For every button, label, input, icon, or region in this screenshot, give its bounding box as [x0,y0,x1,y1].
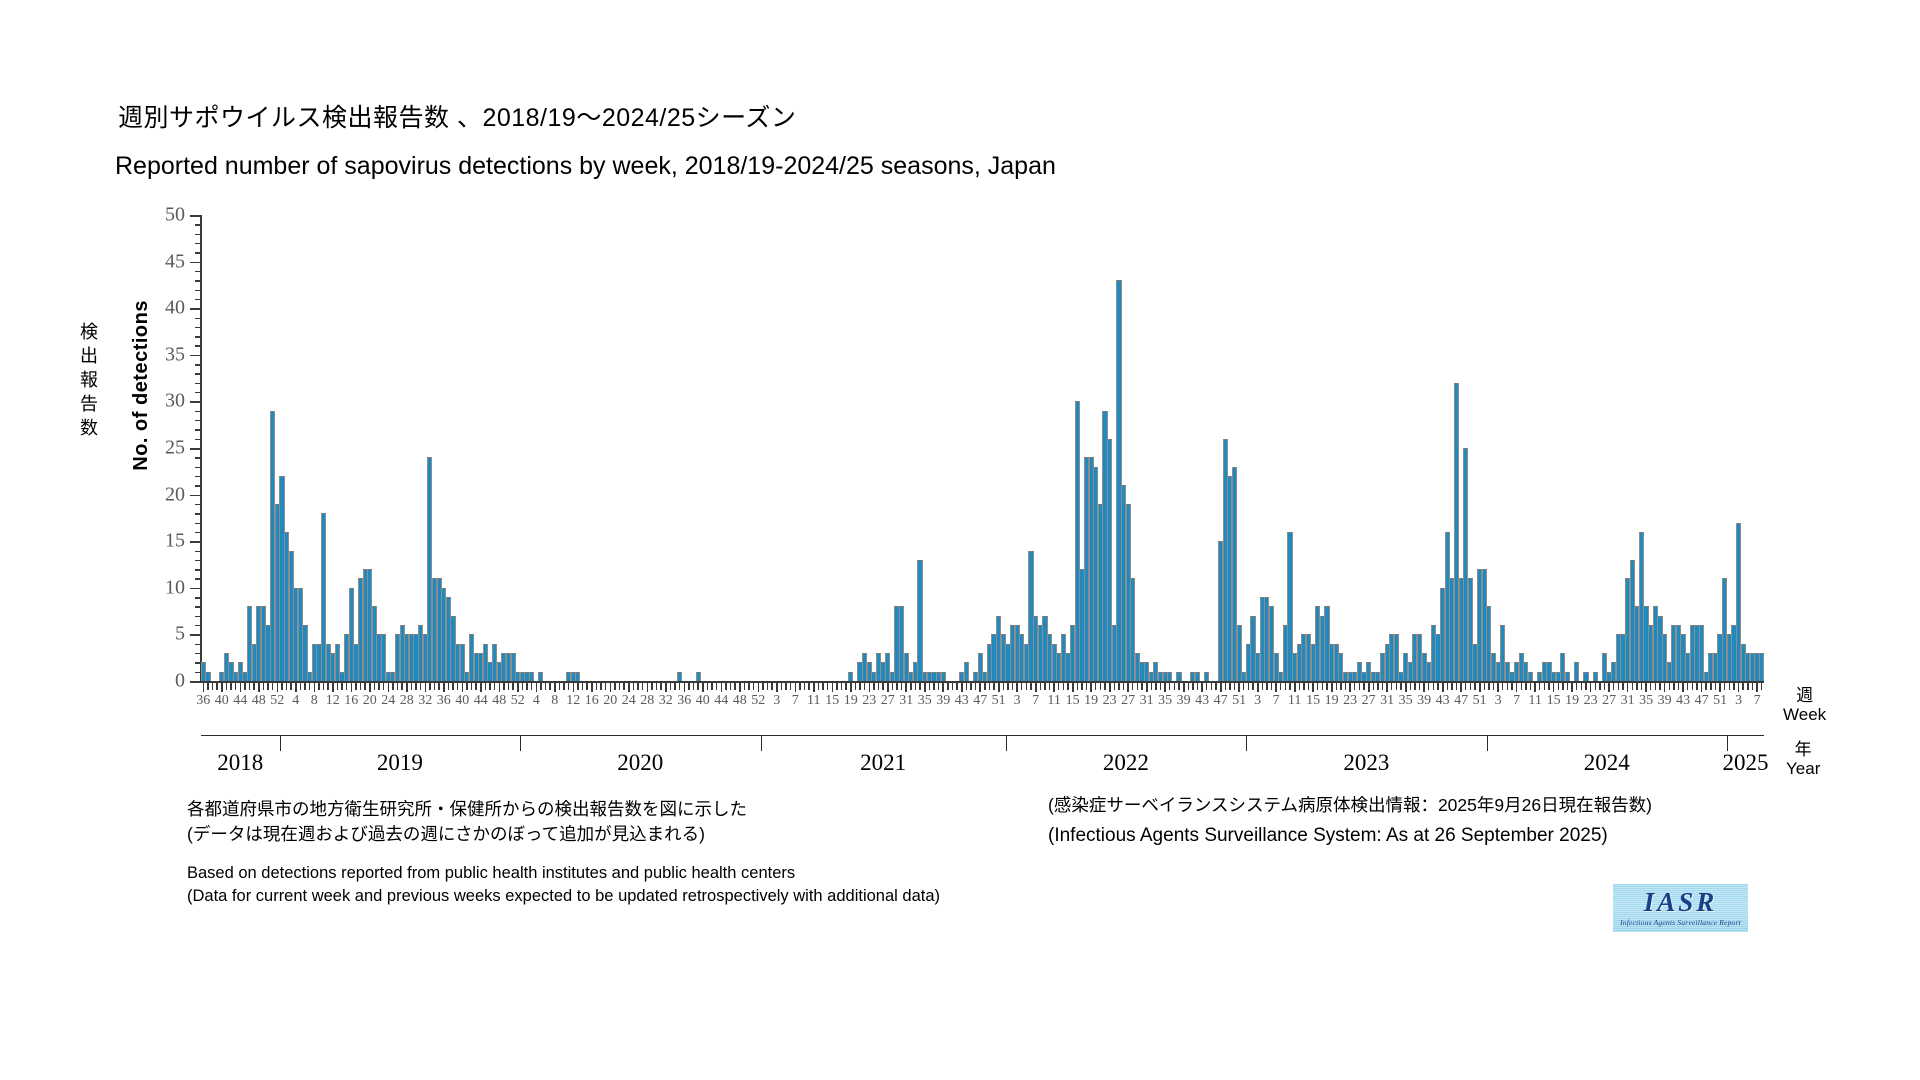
footnote-japanese: 各都道府県市の地方衛生研究所・保健所からの検出報告数を図に示した (データは現在… [187,797,747,847]
bar [1593,672,1598,681]
x-tick-minor [771,683,772,690]
x-tick-minor [822,683,823,690]
x-tick-major [1238,683,1240,692]
x-tick-major [1405,683,1407,692]
x-tick-minor [1132,683,1133,690]
x-tick-minor [693,683,694,690]
x-tick-minor [545,683,546,690]
x-tick-major [369,683,371,692]
x-tick-minor [1252,683,1253,690]
x-tick-label: 23 [862,693,876,709]
x-tick-minor [494,683,495,690]
y-tick-minor [195,467,201,468]
y-tick-minor [195,653,201,654]
year-separator [520,735,521,751]
x-tick-major [1442,683,1444,692]
x-tick-minor [1225,683,1226,690]
x-tick-minor [785,683,786,690]
x-tick-minor [1687,683,1688,690]
x-tick-major [832,683,834,692]
x-tick-minor [744,683,745,690]
x-tick-label: 16 [585,693,599,709]
y-tick-minor [195,569,201,570]
x-tick-major [1312,683,1314,692]
x-tick-minor [956,683,957,690]
y-tick-minor [195,373,201,374]
x-tick-minor [1229,683,1230,690]
chart-title-japanese: 週別サポウイルス検出報告数 、2018/19〜2024/25シーズン [118,98,796,134]
x-tick-label: 44 [714,693,728,709]
x-tick-label: 15 [1547,693,1561,709]
bar [696,672,701,681]
x-tick-minor [781,683,782,690]
x-tick-label: 8 [311,693,318,709]
x-tick-major [1534,683,1536,692]
bar [964,662,969,681]
y-tick-minor [195,364,201,365]
x-tick-minor [919,683,920,690]
y-tick-minor [195,606,201,607]
x-tick-major [591,683,593,692]
year-separator [1487,735,1488,751]
x-tick-major [1423,683,1425,692]
x-tick-label: 19 [1325,693,1339,709]
x-tick-minor [1622,683,1623,690]
x-tick-major [443,683,445,692]
y-tick-minor [195,513,201,514]
x-tick-minor [1692,683,1693,690]
x-tick-minor [1234,683,1235,690]
x-tick-major [942,683,944,692]
x-tick-label: 35 [1399,693,1413,709]
y-tick-major [190,401,201,403]
source-note-english: (Infectious Agents Surveillance System: … [1048,825,1608,847]
x-tick-minor [1299,683,1300,690]
x-tick-major [462,683,464,692]
x-tick-minor [970,683,971,690]
x-tick-major [221,683,223,692]
year-label: 2020 [617,750,663,776]
x-tick-minor [882,683,883,690]
x-tick-minor [938,683,939,690]
x-tick-major [388,683,390,692]
x-tick-minor [327,683,328,690]
x-tick-minor [1428,683,1429,690]
x-tick-minor [711,683,712,690]
y-tick-label: 5 [175,623,185,646]
x-tick-minor [360,683,361,690]
x-tick-minor [1618,683,1619,690]
x-tick-minor [929,683,930,690]
x-tick-major [1738,683,1740,692]
x-tick-minor [1095,683,1096,690]
x-tick-minor [1678,683,1679,690]
x-tick-minor [1729,683,1730,690]
year-separator [280,735,281,751]
x-tick-major [721,683,723,692]
y-tick-major [190,448,201,450]
x-tick-label: 40 [215,693,229,709]
x-tick-minor [1178,683,1179,690]
plot-area: 05101520253035404550 [201,215,1764,681]
x-tick-label: 11 [807,693,820,709]
x-tick-label: 39 [1177,693,1191,709]
x-tick-minor [244,683,245,690]
x-tick-minor [577,683,578,690]
year-separator [1246,735,1247,751]
bar [1167,672,1172,681]
x-tick-label: 11 [1047,693,1060,709]
x-tick-label: 24 [622,693,636,709]
x-tick-major [1090,683,1092,692]
y-tick-minor [195,560,201,561]
x-tick-minor [725,683,726,690]
y-tick-minor [195,672,201,673]
x-tick-minor [1049,683,1050,690]
x-tick-minor [281,683,282,690]
x-tick-minor [1322,683,1323,690]
y-tick-label: 45 [165,250,185,273]
x-tick-minor [1761,683,1762,690]
x-tick-minor [642,683,643,690]
x-tick-minor [656,683,657,690]
x-tick-label: 4 [533,693,540,709]
iasr-logo-acronym: IASR [1644,889,1718,916]
y-tick-minor [195,532,201,533]
x-tick-minor [429,683,430,690]
x-tick-minor [1030,683,1031,690]
x-tick-major [887,683,889,692]
x-tick-major [1349,683,1351,692]
x-tick-major [998,683,1000,692]
x-tick-minor [415,683,416,690]
x-tick-minor [614,683,615,690]
x-tick-minor [1197,683,1198,690]
x-tick-major [758,683,760,692]
source-note-japanese: (感染症サーベイランスシステム病原体検出情報：2025年9月26日現在報告数) [1048,792,1652,817]
x-tick-minor [263,683,264,690]
week-caption-japanese: 週 [1783,686,1826,705]
x-tick-label: 51 [992,693,1006,709]
x-tick-major [536,683,538,692]
x-tick-minor [859,683,860,690]
x-tick-minor [1169,683,1170,690]
x-tick-major [1553,683,1555,692]
x-tick-minor [1326,683,1327,690]
y-tick-label: 20 [165,483,185,506]
y-axis-title-japanese: 検出報告数 [78,320,100,441]
x-tick-label: 3 [1254,693,1261,709]
bar [1759,653,1764,681]
x-tick-minor [1359,683,1360,690]
x-tick-minor [401,683,402,690]
x-tick-minor [670,683,671,690]
x-tick-major [961,683,963,692]
x-tick-minor [540,683,541,690]
x-tick-major [979,683,981,692]
x-tick-minor [748,683,749,690]
x-tick-major [1645,683,1647,692]
x-tick-minor [1174,683,1175,690]
x-tick-label: 48 [492,693,506,709]
y-tick-minor [195,252,201,253]
x-tick-minor [1243,683,1244,690]
x-tick-label: 35 [1158,693,1172,709]
chart-title-english: Reported number of sapovirus detections … [115,152,1056,181]
x-tick-minor [1044,683,1045,690]
x-tick-minor [697,683,698,690]
y-tick-major [190,262,201,264]
x-tick-major [924,683,926,692]
x-tick-minor [1581,683,1582,690]
x-tick-minor [1419,683,1420,690]
x-tick-minor [304,683,305,690]
x-tick-minor [508,683,509,690]
y-tick-minor [195,523,201,524]
y-tick-minor [195,597,201,598]
x-tick-minor [1012,683,1013,690]
x-tick-minor [1086,683,1087,690]
x-tick-major [1627,683,1629,692]
x-tick-major [554,683,556,692]
x-tick-minor [799,683,800,690]
y-tick-major [190,495,201,497]
x-tick-minor [1548,683,1549,690]
x-tick-minor [1104,683,1105,690]
x-tick-minor [230,683,231,690]
x-tick-minor [804,683,805,690]
x-tick-minor [1742,683,1743,690]
x-tick-major [850,683,852,692]
x-tick-minor [448,683,449,690]
x-tick-minor [984,683,985,690]
week-axis-caption: 週 Week [1783,686,1826,724]
y-tick-minor [195,234,201,235]
x-tick-major [1516,683,1518,692]
x-tick-minor [1040,683,1041,690]
x-tick-minor [1673,683,1674,690]
y-tick-minor [195,290,201,291]
x-tick-minor [1414,683,1415,690]
x-tick-minor [966,683,967,690]
x-tick-label: 31 [1140,693,1154,709]
x-tick-major [258,683,260,692]
x-tick-minor [1215,683,1216,690]
x-tick-minor [1382,683,1383,690]
bar [941,672,946,681]
x-tick-minor [1595,683,1596,690]
bar [575,672,580,681]
x-tick-minor [1747,683,1748,690]
x-tick-major [1460,683,1462,692]
x-tick-major [1220,683,1222,692]
bar [677,672,682,681]
x-tick-minor [933,683,934,690]
x-tick-label: 15 [1066,693,1080,709]
x-tick-minor [1613,683,1614,690]
x-tick-minor [253,683,254,690]
x-tick-minor [1373,683,1374,690]
y-tick-label: 15 [165,530,185,553]
x-tick-minor [452,683,453,690]
x-tick-minor [1558,683,1559,690]
y-tick-minor [195,625,201,626]
x-tick-minor [411,683,412,690]
x-tick-minor [1752,683,1753,690]
x-tick-label: 24 [381,693,395,709]
x-tick-minor [1248,683,1249,690]
x-tick-minor [952,683,953,690]
x-tick-label: 27 [881,693,895,709]
x-tick-label: 40 [455,693,469,709]
x-tick-minor [383,683,384,690]
x-tick-label: 20 [363,693,377,709]
x-tick-minor [434,683,435,690]
x-tick-minor [1317,683,1318,690]
x-tick-minor [679,683,680,690]
x-tick-minor [753,683,754,690]
x-tick-major [1664,683,1666,692]
year-axis-line [201,735,1764,736]
x-tick-minor [346,683,347,690]
y-tick-major [190,541,201,543]
x-tick-label: 35 [918,693,932,709]
x-tick-minor [1206,683,1207,690]
x-tick-minor [827,683,828,690]
x-tick-minor [1063,683,1064,690]
x-tick-label: 40 [696,693,710,709]
x-tick-minor [1562,683,1563,690]
x-tick-minor [1271,683,1272,690]
x-tick-label: 51 [1232,693,1246,709]
x-tick-minor [1650,683,1651,690]
x-tick-minor [1599,683,1600,690]
x-tick-minor [1433,683,1434,690]
x-tick-minor [836,683,837,690]
x-tick-major [1035,683,1037,692]
x-tick-major [795,683,797,692]
year-separator [1727,735,1728,751]
x-tick-major [1257,683,1259,692]
y-tick-label: 50 [165,204,185,227]
x-tick-minor [1211,683,1212,690]
x-tick-minor [1502,683,1503,690]
x-tick-minor [397,683,398,690]
x-tick-major [1183,683,1185,692]
x-tick-minor [1507,683,1508,690]
year-label: 2022 [1103,750,1149,776]
x-tick-minor [605,683,606,690]
x-tick-minor [1724,683,1725,690]
x-tick-label: 35 [1639,693,1653,709]
x-tick-major [628,683,630,692]
x-tick-label: 27 [1121,693,1135,709]
x-tick-major [240,683,242,692]
x-tick-minor [1363,683,1364,690]
x-tick-minor [309,683,310,690]
x-tick-minor [1345,683,1346,690]
x-tick-label: 19 [844,693,858,709]
year-label: 2021 [860,750,906,776]
x-tick-minor [216,683,217,690]
x-tick-minor [1488,683,1489,690]
x-tick-major [203,683,205,692]
x-tick-minor [651,683,652,690]
footnote-english-line1: Based on detections reported from public… [187,862,940,885]
x-tick-major [425,683,427,692]
x-tick-minor [855,683,856,690]
x-tick-label: 31 [1380,693,1394,709]
x-tick-minor [1289,683,1290,690]
x-tick-minor [790,683,791,690]
x-tick-minor [563,683,564,690]
x-tick-label: 19 [1565,693,1579,709]
x-tick-major [813,683,815,692]
x-tick-minor [1655,683,1656,690]
x-tick-major [1146,683,1148,692]
y-tick-minor [195,578,201,579]
year-label: 2019 [377,750,423,776]
x-tick-label: 32 [418,693,432,709]
y-tick-major [190,355,201,357]
x-tick-minor [1118,683,1119,690]
x-tick-minor [1396,683,1397,690]
bar [848,672,853,681]
x-tick-label: 28 [400,693,414,709]
footnote-english-line2: (Data for current week and previous week… [187,885,940,908]
x-tick-major [1479,683,1481,692]
x-tick-minor [286,683,287,690]
y-tick-major [190,308,201,310]
year-caption-japanese: 年 [1786,740,1820,759]
x-tick-label: 7 [1273,693,1280,709]
x-tick-minor [471,683,472,690]
x-tick-minor [457,683,458,690]
y-tick-minor [195,616,201,617]
x-tick-minor [841,683,842,690]
x-tick-major [1497,683,1499,692]
x-tick-minor [1696,683,1697,690]
x-tick-label: 3 [1014,693,1021,709]
x-tick-minor [716,683,717,690]
x-tick-minor [1081,683,1082,690]
x-tick-minor [1493,683,1494,690]
x-tick-major [295,683,297,692]
x-tick-minor [586,683,587,690]
x-tick-major [665,683,667,692]
y-tick-label: 10 [165,576,185,599]
x-tick-minor [364,683,365,690]
x-tick-minor [420,683,421,690]
x-tick-minor [873,683,874,690]
x-tick-minor [1465,683,1466,690]
y-tick-minor [195,644,201,645]
x-tick-label: 44 [233,693,247,709]
x-tick-minor [1585,683,1586,690]
x-tick-minor [1447,683,1448,690]
x-tick-minor [1285,683,1286,690]
x-tick-minor [466,683,467,690]
x-tick-minor [549,683,550,690]
x-tick-label: 32 [659,693,673,709]
year-label: 2018 [217,750,263,776]
x-tick-minor [619,683,620,690]
bar [1195,672,1200,681]
x-tick-minor [1391,683,1392,690]
x-tick-major [905,683,907,692]
x-tick-minor [290,683,291,690]
x-tick-minor [341,683,342,690]
